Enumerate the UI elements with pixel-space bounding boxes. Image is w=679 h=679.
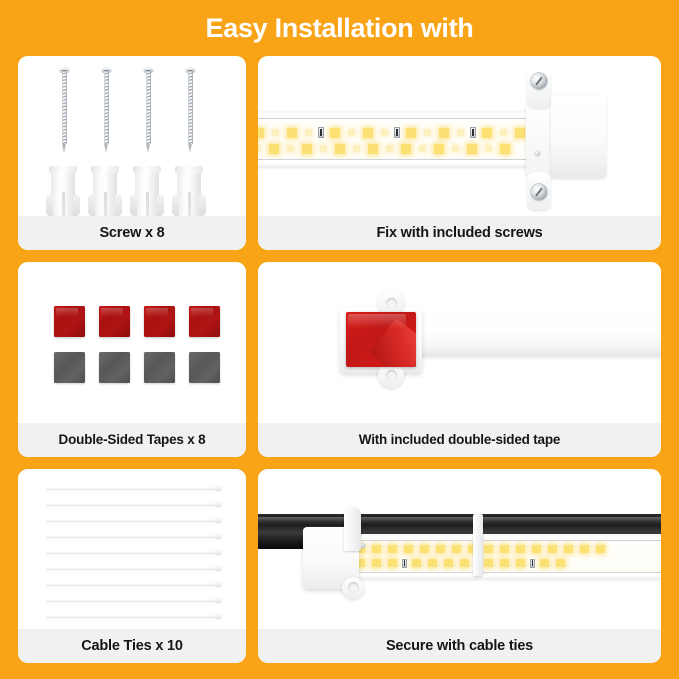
tape-set-icon [18,262,246,422]
tape-gloss [348,314,406,328]
card-with-tape-caption: With included double-sided tape [258,423,661,457]
card-secure-with-ties[interactable]: Secure with cable ties [258,469,661,663]
screw-set-icon [18,56,246,216]
light-bar-endcap [551,96,606,178]
card-secure-with-ties-caption: Secure with cable ties [258,629,661,663]
page-title: Easy Installation with [206,13,474,44]
card-double-sided-tapes-caption: Double-Sided Tapes x 8 [18,423,246,457]
bar-side-screw [535,151,540,156]
card-double-sided-tapes-visual [18,262,246,422]
red-double-sided-tape-icon [346,312,416,367]
card-secure-with-ties-visual [258,469,661,629]
cable-tie-strap-left [344,507,361,551]
led-light-bar-icon [348,534,661,579]
bracket-screw-top [531,73,547,89]
mount-loop-bottom [342,577,364,599]
light-bar-back-icon [408,315,661,357]
card-with-tape[interactable]: With included double-sided tape [258,262,661,456]
card-cable-ties-visual [18,469,246,629]
led-row-top [258,127,548,138]
card-with-tape-visual [258,262,661,422]
card-fix-with-screws-caption: Fix with included screws [258,216,661,250]
led-row-bottom [258,143,548,154]
page-header: Easy Installation with [0,0,679,56]
card-screws-visual [18,56,246,216]
card-fix-with-screws-visual [258,56,661,216]
card-fix-with-screws[interactable]: Fix with included screws [258,56,661,250]
led-light-bar-icon [258,111,548,167]
led-row-top [348,545,661,554]
card-double-sided-tapes[interactable]: Double-Sided Tapes x 8 [18,262,246,456]
pipe-highlight [258,517,661,525]
card-cable-ties-caption: Cable Ties x 10 [18,629,246,663]
mounting-bracket-icon [526,104,552,176]
installation-card-grid: Screw x 8 [18,56,661,663]
cable-tie-strap-right [473,514,483,576]
led-row-bottom [348,559,661,568]
bracket-screw-bottom [531,184,547,200]
card-cable-ties[interactable]: Cable Ties x 10 [18,469,246,663]
card-screws-caption: Screw x 8 [18,216,246,250]
card-screws[interactable]: Screw x 8 [18,56,246,250]
